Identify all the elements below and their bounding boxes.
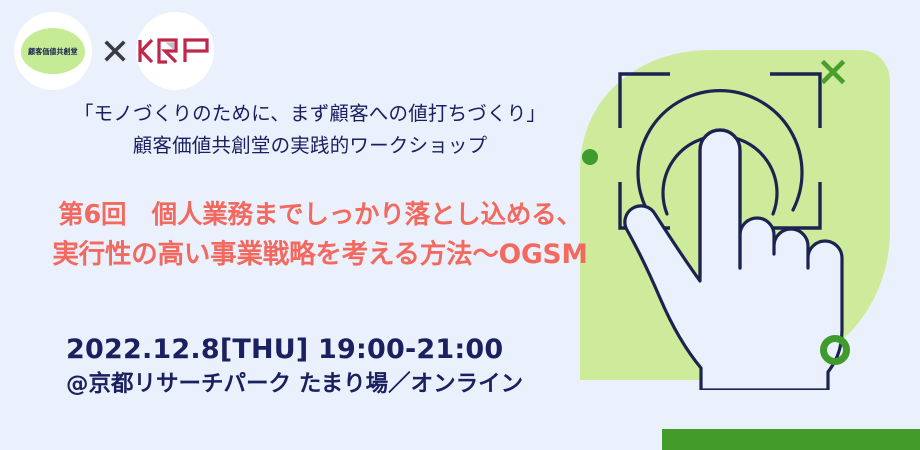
headline-line-1: 第6回 個人業務までしっかり落とし込める、 [58, 200, 582, 230]
subtitle-line-1: 「モノづくりのために、まず顧客への値打ちづくり」 [74, 102, 546, 125]
event-date: 2022.12.8[THU] 19:00-21:00 [66, 332, 523, 368]
footer-green-bar [662, 429, 920, 450]
logo-krp [136, 12, 214, 90]
event-subtitle: 「モノづくりのために、まず顧客への値打ちづくり」 顧客価値共創堂の実践的ワークシ… [0, 98, 620, 162]
headline-line-2: 実行性の高い事業戦略を考える方法〜OGSM [0, 235, 640, 274]
logo-kokyaku-kachi: 顧客価値共創堂 [14, 12, 92, 90]
event-venue: @京都リサーチパーク たまり場／オンライン [66, 368, 523, 401]
subtitle-line-2: 顧客価値共創堂の実践的ワークショップ [0, 130, 620, 162]
logo-blob-shape: 顧客価値共創堂 [21, 28, 85, 74]
krp-wordmark-icon [137, 36, 213, 66]
event-details: 2022.12.8[THU] 19:00-21:00 @京都リサーチパーク たま… [66, 332, 523, 401]
event-banner: 顧客価値共創堂 [0, 0, 920, 450]
event-headline: 第6回 個人業務までしっかり落とし込める、 実行性の高い事業戦略を考える方法〜O… [0, 196, 640, 274]
logo-kokyaku-kachi-label: 顧客価値共創堂 [28, 46, 78, 57]
x-cross-icon [102, 38, 128, 64]
partner-logos: 顧客価値共創堂 [14, 12, 214, 90]
